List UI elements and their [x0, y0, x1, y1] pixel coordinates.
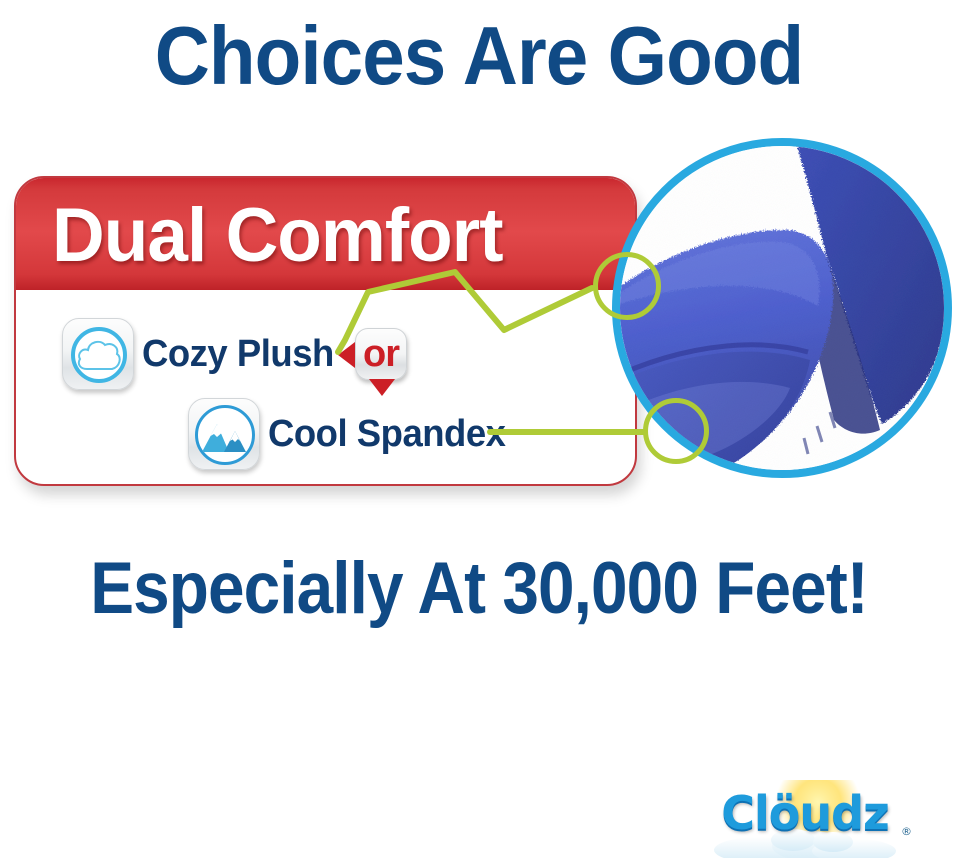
logo-wordmark: Clöudz: [690, 780, 920, 846]
page-title-top: Choices Are Good: [38, 14, 919, 97]
feature-row-cozy-plush: Cozy Plush: [62, 318, 342, 390]
cloud-icon: [76, 337, 122, 373]
banner-title: Dual Comfort: [52, 186, 503, 286]
spandex-area-marker: [643, 398, 709, 464]
brand-logo: Clöudz ®: [690, 780, 920, 858]
or-arrow-down-icon: [369, 379, 395, 396]
cloud-icon-tile: [62, 318, 134, 390]
feature-label-cool-spandex: Cool Spandex: [268, 413, 505, 456]
card-banner: Dual Comfort: [16, 178, 635, 290]
or-arrow-left-icon: [338, 342, 355, 368]
or-label: or: [356, 329, 406, 379]
registered-trademark-mark: ®: [901, 825, 912, 838]
marketing-image: Choices Are Good Dual Comfort Cozy Plush…: [0, 0, 958, 864]
plush-area-marker: [593, 252, 661, 320]
feature-row-cool-spandex: Cool Spandex: [188, 398, 515, 470]
page-title-bottom: Especially At 30,000 Feet!: [48, 552, 910, 625]
mountain-snowflake-icon: [198, 408, 252, 462]
mountain-icon-tile: [188, 398, 260, 470]
or-badge: or: [355, 328, 407, 380]
feature-label-cozy-plush: Cozy Plush: [142, 333, 334, 376]
mountain-circle: [195, 405, 255, 465]
